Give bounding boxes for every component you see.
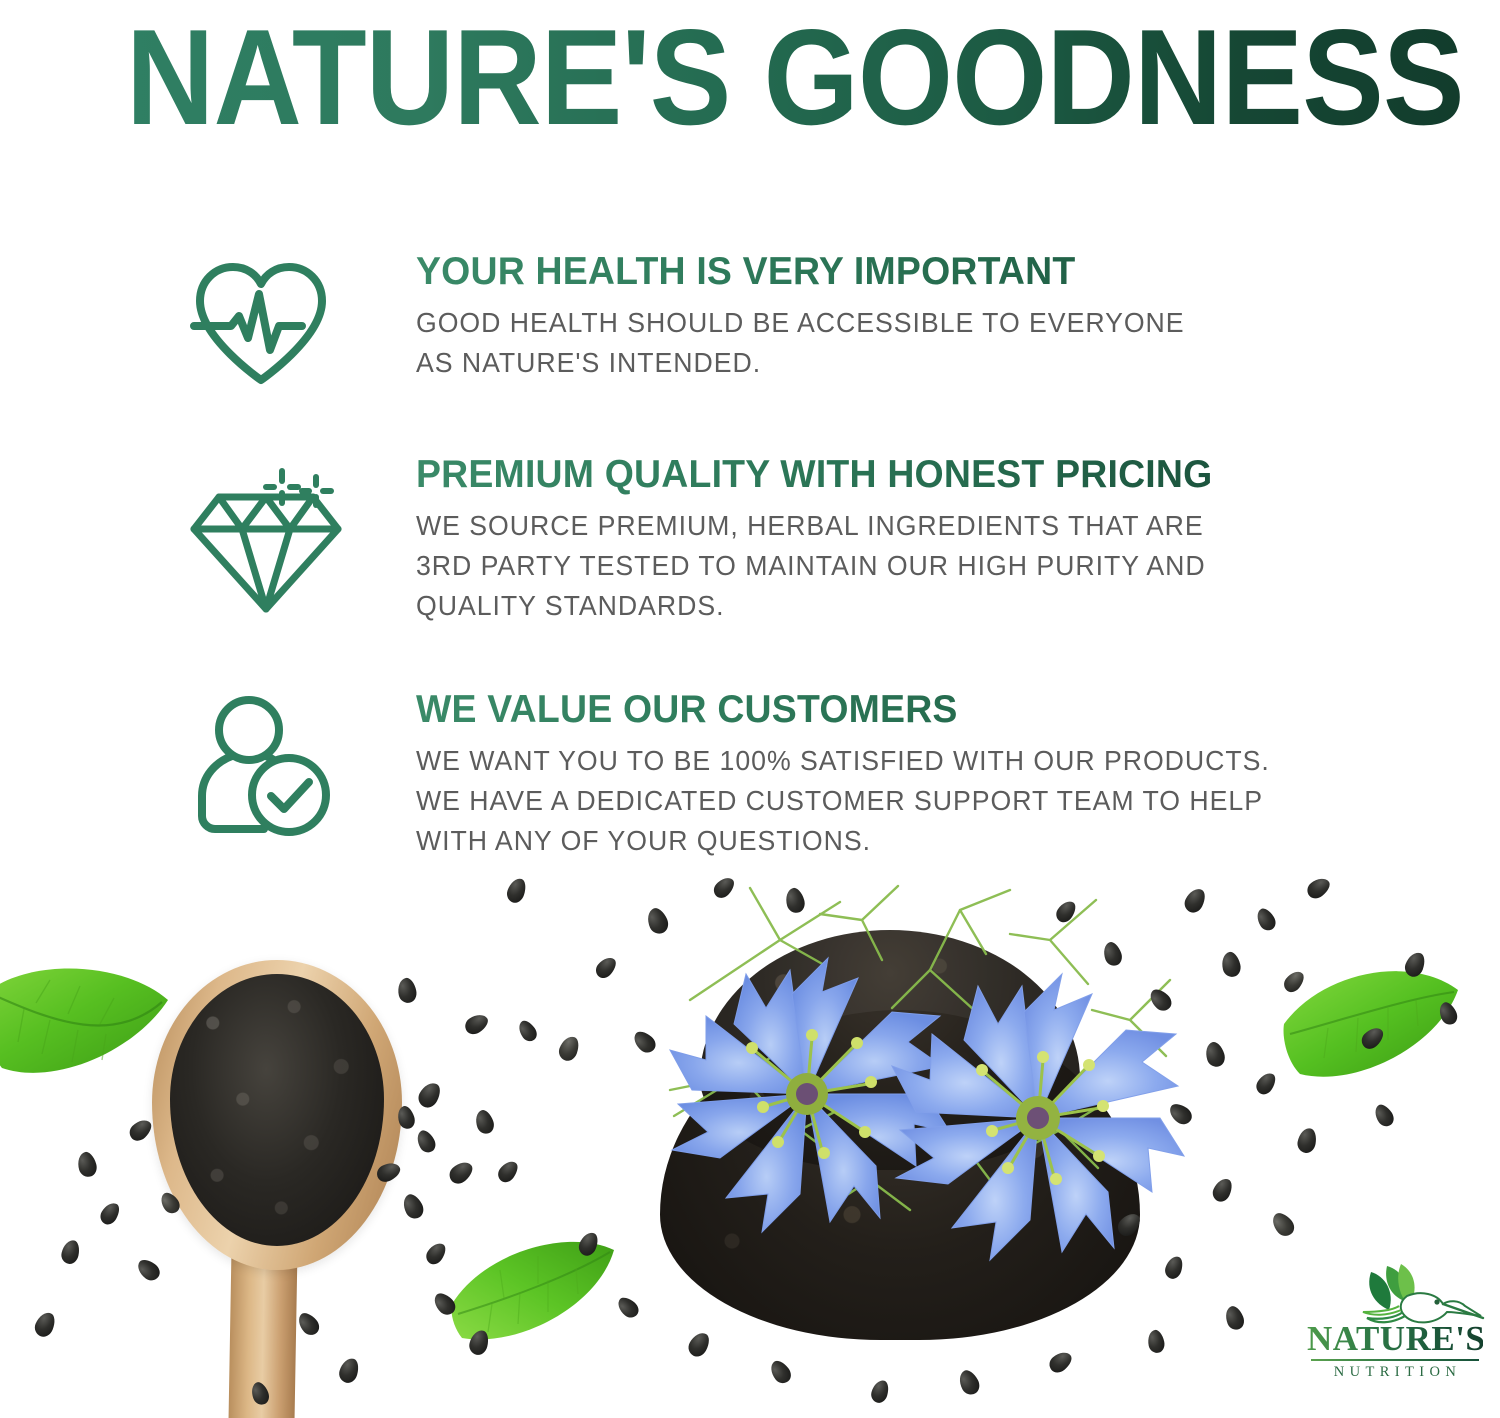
seed — [505, 876, 529, 905]
product-photo — [0, 860, 1500, 1418]
feature-text-cell: PREMIUM QUALITY WITH HONEST PRICING WE S… — [416, 453, 1486, 626]
seed — [1146, 1329, 1166, 1355]
header-banner: NATURE'S GOODNESS — [0, 0, 1500, 160]
green-leaf-left — [0, 956, 174, 1096]
feature-text-cell: YOUR HEALTH IS VERY IMPORTANT GOOD HEALT… — [416, 250, 1486, 383]
seed — [955, 1367, 983, 1398]
seed — [495, 1157, 521, 1185]
seed — [556, 1034, 581, 1064]
seed — [126, 1116, 155, 1145]
heart-pulse-icon — [186, 254, 336, 389]
seed — [337, 1356, 361, 1385]
seed — [592, 954, 619, 982]
seed — [515, 1018, 540, 1045]
seed — [446, 1157, 477, 1187]
seed — [134, 1256, 163, 1284]
diamond-sparkle-icon — [186, 457, 346, 617]
seed — [1219, 950, 1243, 979]
green-leaf-right — [1282, 962, 1462, 1092]
seed — [1046, 1348, 1075, 1376]
seed — [1253, 906, 1279, 934]
seed — [1203, 1040, 1228, 1069]
feature-text-cell: WE VALUE OUR CUSTOMERS WE WANT YOU TO BE… — [416, 688, 1486, 861]
feature-icon-cell — [186, 453, 416, 617]
seed — [60, 1238, 82, 1265]
feature-icon-cell — [186, 688, 416, 842]
seed — [1268, 1209, 1298, 1240]
seed — [75, 1150, 99, 1179]
brand-logo[interactable]: NATURE'S NUTRITION — [1305, 1262, 1485, 1390]
seed — [415, 1079, 444, 1111]
feature-heading: PREMIUM QUALITY WITH HONEST PRICING — [416, 453, 1443, 497]
blue-nigella-flower-right — [886, 972, 1186, 1262]
logo-divider — [1311, 1359, 1479, 1361]
seed — [766, 1357, 794, 1386]
feature-icon-cell — [186, 250, 416, 389]
seed — [685, 1329, 713, 1360]
seed — [1371, 1101, 1397, 1129]
feature-heading: YOUR HEALTH IS VERY IMPORTANT — [416, 250, 1443, 294]
feature-body: GOOD HEALTH SHOULD BE ACCESSIBLE TO EVER… — [416, 303, 1454, 383]
seed — [423, 1239, 449, 1267]
feature-row: PREMIUM QUALITY WITH HONEST PRICING WE S… — [186, 453, 1486, 626]
seed — [97, 1200, 122, 1228]
logo-brand-name: NATURE'S — [1307, 1322, 1483, 1356]
logo-wordmark: NATURE'S NUTRITION — [1307, 1322, 1483, 1381]
page-title: NATURE'S GOODNESS — [126, 2, 1464, 152]
seed — [1222, 1304, 1247, 1333]
user-check-icon — [186, 692, 336, 842]
feature-row: WE VALUE OUR CUSTOMERS WE WANT YOU TO BE… — [186, 688, 1486, 861]
seed — [32, 1310, 58, 1340]
seed — [472, 1108, 496, 1136]
seed — [413, 1128, 438, 1156]
seed — [399, 1191, 427, 1222]
seed — [1253, 1070, 1279, 1098]
logo-brand-sub: NUTRITION — [1307, 1364, 1483, 1381]
feature-row: YOUR HEALTH IS VERY IMPORTANT GOOD HEALT… — [186, 250, 1486, 389]
feature-body: WE WANT YOU TO BE 100% SATISFIED WITH OU… — [416, 741, 1454, 861]
seed — [1304, 874, 1333, 902]
feature-heading: WE VALUE OUR CUSTOMERS — [416, 688, 1443, 732]
feature-body: WE SOURCE PREMIUM, HERBAL INGREDIENTS TH… — [416, 506, 1454, 626]
seed — [1210, 1176, 1235, 1205]
seed — [462, 1010, 491, 1038]
seed — [294, 1309, 323, 1338]
seed — [614, 1294, 642, 1321]
seed — [396, 976, 419, 1004]
seed — [1296, 1127, 1318, 1155]
seed — [869, 1378, 891, 1405]
